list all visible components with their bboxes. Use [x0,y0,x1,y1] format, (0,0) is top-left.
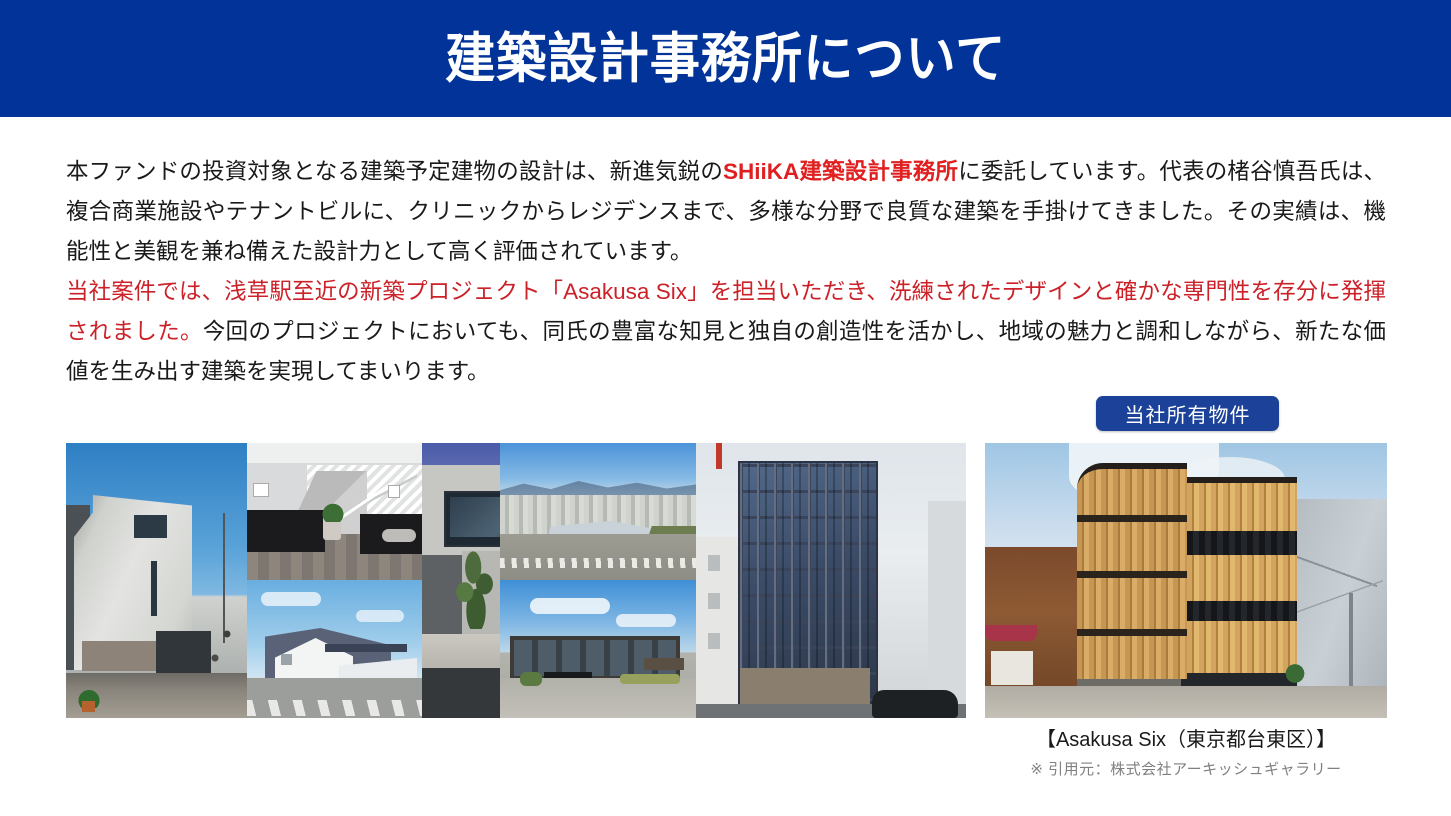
owned-property-badge: 当社所有物件 [1096,396,1279,431]
owned-property-badge-label: 当社所有物件 [1125,399,1251,428]
page-title: 建築設計事務所について [445,32,1006,86]
photo-stair-interior [247,443,422,580]
firm-name-highlight: SHiiKA建築設計事務所 [723,159,958,184]
photo-white-shop-rendering [247,580,422,718]
photo-asakusa-six-building [985,443,1387,718]
photo-aerial-town-view [500,443,696,580]
gallery-column-3 [422,443,500,718]
feature-source-note: ※ 引用元：株式会社アーキッシュギャラリー [985,758,1387,779]
gallery-column-2 [247,443,422,718]
paragraph2-segment-2: 今回のプロジェクトにおいても、同氏の豊富な知見と独自の創造性を活かし、地域の魅力… [66,319,1386,384]
paragraph-project: 当社案件では、浅草駅至近の新築プロジェクト「Asakusa Six」を担当いただ… [66,272,1386,392]
page-header-banner: 建築設計事務所について [0,0,1451,117]
project-gallery [66,443,966,718]
paragraph1-segment-1: 本ファンドの投資対象となる建築予定建物の設計は、新進気鋭の [66,159,723,184]
photo-lattice-tower-building [696,443,966,718]
photo-dark-office-building [500,580,696,718]
body-copy: 本ファンドの投資対象となる建築予定建物の設計は、新進気鋭のSHiiKA建築設計事… [66,152,1386,392]
paragraph-intro: 本ファンドの投資対象となる建築予定建物の設計は、新進気鋭のSHiiKA建築設計事… [66,152,1386,272]
gallery-column-4 [500,443,696,718]
gallery-column-5 [696,443,966,718]
gallery-column-1 [66,443,247,718]
photo-courtyard-with-tree [422,443,500,718]
feature-caption: 【Asakusa Six（東京都台東区）】 [985,723,1387,752]
photo-concrete-house-exterior [66,443,247,718]
